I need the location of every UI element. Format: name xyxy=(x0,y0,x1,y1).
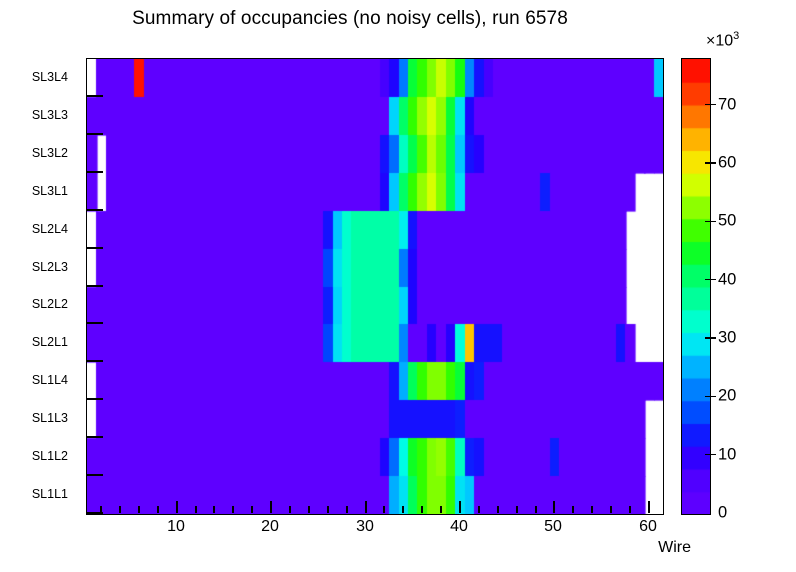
colorbar-tick xyxy=(705,396,716,398)
x-axis-tick-label: 40 xyxy=(450,518,468,536)
y-axis-tick xyxy=(86,133,103,135)
colorbar-tick xyxy=(705,337,716,339)
x-axis-minor-tick xyxy=(289,506,291,513)
y-axis-tick xyxy=(86,436,103,438)
colorbar-tick-label: 70 xyxy=(718,95,736,114)
x-axis-minor-tick xyxy=(119,506,121,513)
colorbar-multiplier-exponent: 3 xyxy=(733,30,739,42)
colorbar-tick-label: 10 xyxy=(718,445,736,464)
x-axis-minor-tick xyxy=(232,506,234,513)
chart-root: Summary of occupancies (no noisy cells),… xyxy=(0,0,796,572)
x-axis-major-tick xyxy=(459,501,461,513)
y-axis-tick xyxy=(86,95,103,97)
colorbar-tick-label: 0 xyxy=(718,504,727,523)
colorbar-canvas xyxy=(682,59,710,514)
y-axis-tick-label: SL1L4 xyxy=(32,373,68,387)
y-axis-tick-label: SL1L2 xyxy=(32,449,68,463)
y-axis-labels: SL3L4SL3L3SL3L2SL3L1SL2L4SL2L3SL2L2SL2L1… xyxy=(0,58,80,513)
heatmap-plot-area[interactable] xyxy=(86,58,664,515)
heatmap-cells[interactable] xyxy=(87,59,663,514)
x-axis-minor-tick xyxy=(535,506,537,513)
y-axis-tick xyxy=(86,360,103,362)
x-axis-minor-tick xyxy=(478,506,480,513)
x-axis-minor-tick xyxy=(572,506,574,513)
y-axis-tick-label: SL3L2 xyxy=(32,146,68,160)
x-axis-minor-tick xyxy=(402,506,404,513)
y-axis-tick-label: SL1L3 xyxy=(32,411,68,425)
x-axis-minor-tick xyxy=(213,506,215,513)
colorbar-tick-label: 50 xyxy=(718,212,736,231)
x-axis-minor-tick xyxy=(157,506,159,513)
colorbar-tick-label: 20 xyxy=(718,387,736,406)
x-axis-minor-tick xyxy=(497,506,499,513)
colorbar-gradient xyxy=(681,58,711,515)
colorbar-multiplier: ×103 xyxy=(706,30,739,50)
y-axis-tick-label: SL1L1 xyxy=(32,487,68,501)
x-axis-major-tick xyxy=(176,501,178,513)
colorbar-tick xyxy=(705,104,716,106)
x-axis-minor-tick xyxy=(138,506,140,513)
colorbar-tick xyxy=(705,454,716,456)
y-axis-tick xyxy=(86,209,103,211)
x-axis-major-tick xyxy=(270,501,272,513)
x-axis-tick-label: 50 xyxy=(544,518,562,536)
heatmap-canvas-wrapper[interactable] xyxy=(87,59,663,514)
y-axis-tick xyxy=(86,285,103,287)
x-axis-minor-tick xyxy=(516,506,518,513)
x-axis-tick-label: 20 xyxy=(261,518,279,536)
colorbar-tick xyxy=(705,162,716,164)
y-axis-tick xyxy=(86,171,103,173)
colorbar-tick-label: 60 xyxy=(718,154,736,173)
x-axis-title: Wire xyxy=(658,539,691,557)
colorbar-tick-label: 30 xyxy=(718,329,736,348)
y-axis-tick xyxy=(86,247,103,249)
x-axis-major-tick xyxy=(365,501,367,513)
y-axis-tick-label: SL3L4 xyxy=(32,70,68,84)
x-axis-minor-tick xyxy=(327,506,329,513)
page-title: Summary of occupancies (no noisy cells),… xyxy=(0,8,700,30)
y-axis-tick-label: SL2L1 xyxy=(32,335,68,349)
y-axis-tick xyxy=(86,474,103,476)
x-axis-major-tick xyxy=(648,501,650,513)
x-axis-tick-label: 30 xyxy=(356,518,374,536)
x-axis-minor-tick xyxy=(610,506,612,513)
y-axis-tick xyxy=(86,322,103,324)
x-axis-minor-tick xyxy=(346,506,348,513)
colorbar-multiplier-base: ×10 xyxy=(706,32,733,49)
y-axis-tick-label: SL2L3 xyxy=(32,260,68,274)
x-axis-minor-tick xyxy=(440,506,442,513)
y-axis-tick xyxy=(86,512,103,514)
y-axis-tick-label: SL3L3 xyxy=(32,108,68,122)
x-axis-minor-tick xyxy=(383,506,385,513)
x-axis-minor-tick xyxy=(629,506,631,513)
x-axis-major-tick xyxy=(553,501,555,513)
x-axis-minor-tick xyxy=(591,506,593,513)
x-axis-minor-tick xyxy=(195,506,197,513)
y-axis-tick-label: SL2L4 xyxy=(32,222,68,236)
x-axis-minor-tick xyxy=(251,506,253,513)
x-axis-minor-tick xyxy=(308,506,310,513)
colorbar-tick xyxy=(705,279,716,281)
x-axis-tick-label: 10 xyxy=(167,518,185,536)
y-axis-tick-label: SL3L1 xyxy=(32,184,68,198)
x-axis-minor-tick xyxy=(421,506,423,513)
colorbar-tick xyxy=(705,221,716,223)
colorbar-tick-label: 40 xyxy=(718,270,736,289)
colorbar xyxy=(681,58,709,513)
y-axis-tick-label: SL2L2 xyxy=(32,297,68,311)
x-axis-tick-label: 60 xyxy=(639,518,657,536)
y-axis-tick xyxy=(86,398,103,400)
